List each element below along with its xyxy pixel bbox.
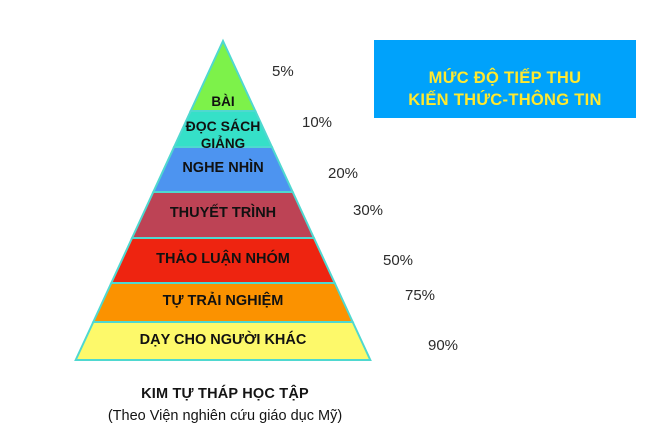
pyramid-percent-label-4: 30% bbox=[353, 202, 383, 219]
pyramid-percent-label-6: 75% bbox=[405, 287, 435, 304]
pyramid-layer-3[interactable] bbox=[153, 147, 292, 192]
legend-title-line1: MỨC ĐỘ TIẾP THU bbox=[429, 68, 582, 90]
pyramid-percent-label-1: 5% bbox=[272, 63, 294, 80]
legend-title-box: MỨC ĐỘ TIẾP THU KIẾN THỨC-THÔNG TIN bbox=[374, 40, 636, 118]
legend-title-line2: KIẾN THỨC-THÔNG TIN bbox=[408, 90, 602, 112]
pyramid-layer-2[interactable] bbox=[174, 111, 272, 147]
pyramid-percent-label-3: 20% bbox=[328, 165, 358, 182]
pyramid-layer-4[interactable] bbox=[132, 192, 314, 238]
caption-title: KIM TỰ THÁP HỌC TẬP bbox=[0, 385, 450, 405]
pyramid-layer-1[interactable] bbox=[191, 41, 256, 111]
caption-source: (Theo Viện nghiên cứu giáo dục Mỹ) bbox=[0, 406, 450, 426]
chart-caption: KIM TỰ THÁP HỌC TẬP (Theo Viện nghiên cứ… bbox=[0, 385, 450, 426]
pyramid-layer-7[interactable] bbox=[76, 322, 371, 360]
pyramid-layers bbox=[76, 41, 371, 360]
pyramid-layer-5[interactable] bbox=[111, 238, 334, 283]
pyramid-percent-label-5: 50% bbox=[383, 252, 413, 269]
pyramid-percent-label-7: 90% bbox=[428, 337, 458, 354]
learning-pyramid-infographic: BÀI GIẢNG ĐỌC SÁCH NGHE NHÌN THUYẾT TRÌN… bbox=[0, 0, 654, 437]
pyramid-layer-6[interactable] bbox=[93, 283, 352, 322]
pyramid-percent-label-2: 10% bbox=[302, 114, 332, 131]
